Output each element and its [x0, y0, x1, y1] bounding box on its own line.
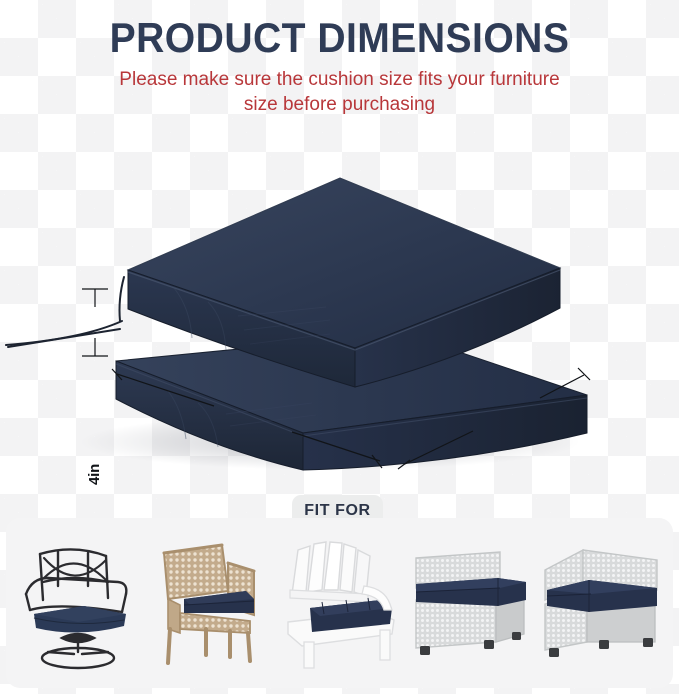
- furniture-item-white-adirondack-chair: [278, 533, 402, 673]
- page-title: PRODUCT DIMENSIONS: [24, 16, 655, 61]
- cushion-tie-straps: [6, 277, 124, 347]
- wicker-corner-sectional-icon: [541, 538, 663, 668]
- furniture-item-metal-swivel-patio-chair: [16, 533, 140, 673]
- fit-for-label: FIT FOR: [304, 502, 370, 520]
- furniture-item-gray-wicker-armless-sectional: [409, 533, 533, 673]
- furniture-item-wicker-dining-arm-chair: [147, 533, 271, 673]
- wicker-dining-chair-icon: [150, 533, 268, 673]
- product-illustration: 4in 22in 22in: [0, 150, 679, 480]
- wicker-armless-sectional-icon: [410, 538, 532, 668]
- page-subtitle: Please make sure the cushion size fits y…: [105, 67, 575, 117]
- furniture-item-gray-wicker-corner-sectional: [540, 533, 664, 673]
- height-dimension-label: 4in: [86, 464, 103, 485]
- header: PRODUCT DIMENSIONS Please make sure the …: [0, 0, 679, 117]
- adirondack-chair-icon: [280, 534, 400, 672]
- product-dimensions-infographic: PRODUCT DIMENSIONS Please make sure the …: [0, 0, 679, 694]
- stacked-cushions-drawing: [0, 150, 679, 480]
- metal-swivel-chair-icon: [18, 534, 138, 672]
- fit-for-panel: [6, 518, 673, 688]
